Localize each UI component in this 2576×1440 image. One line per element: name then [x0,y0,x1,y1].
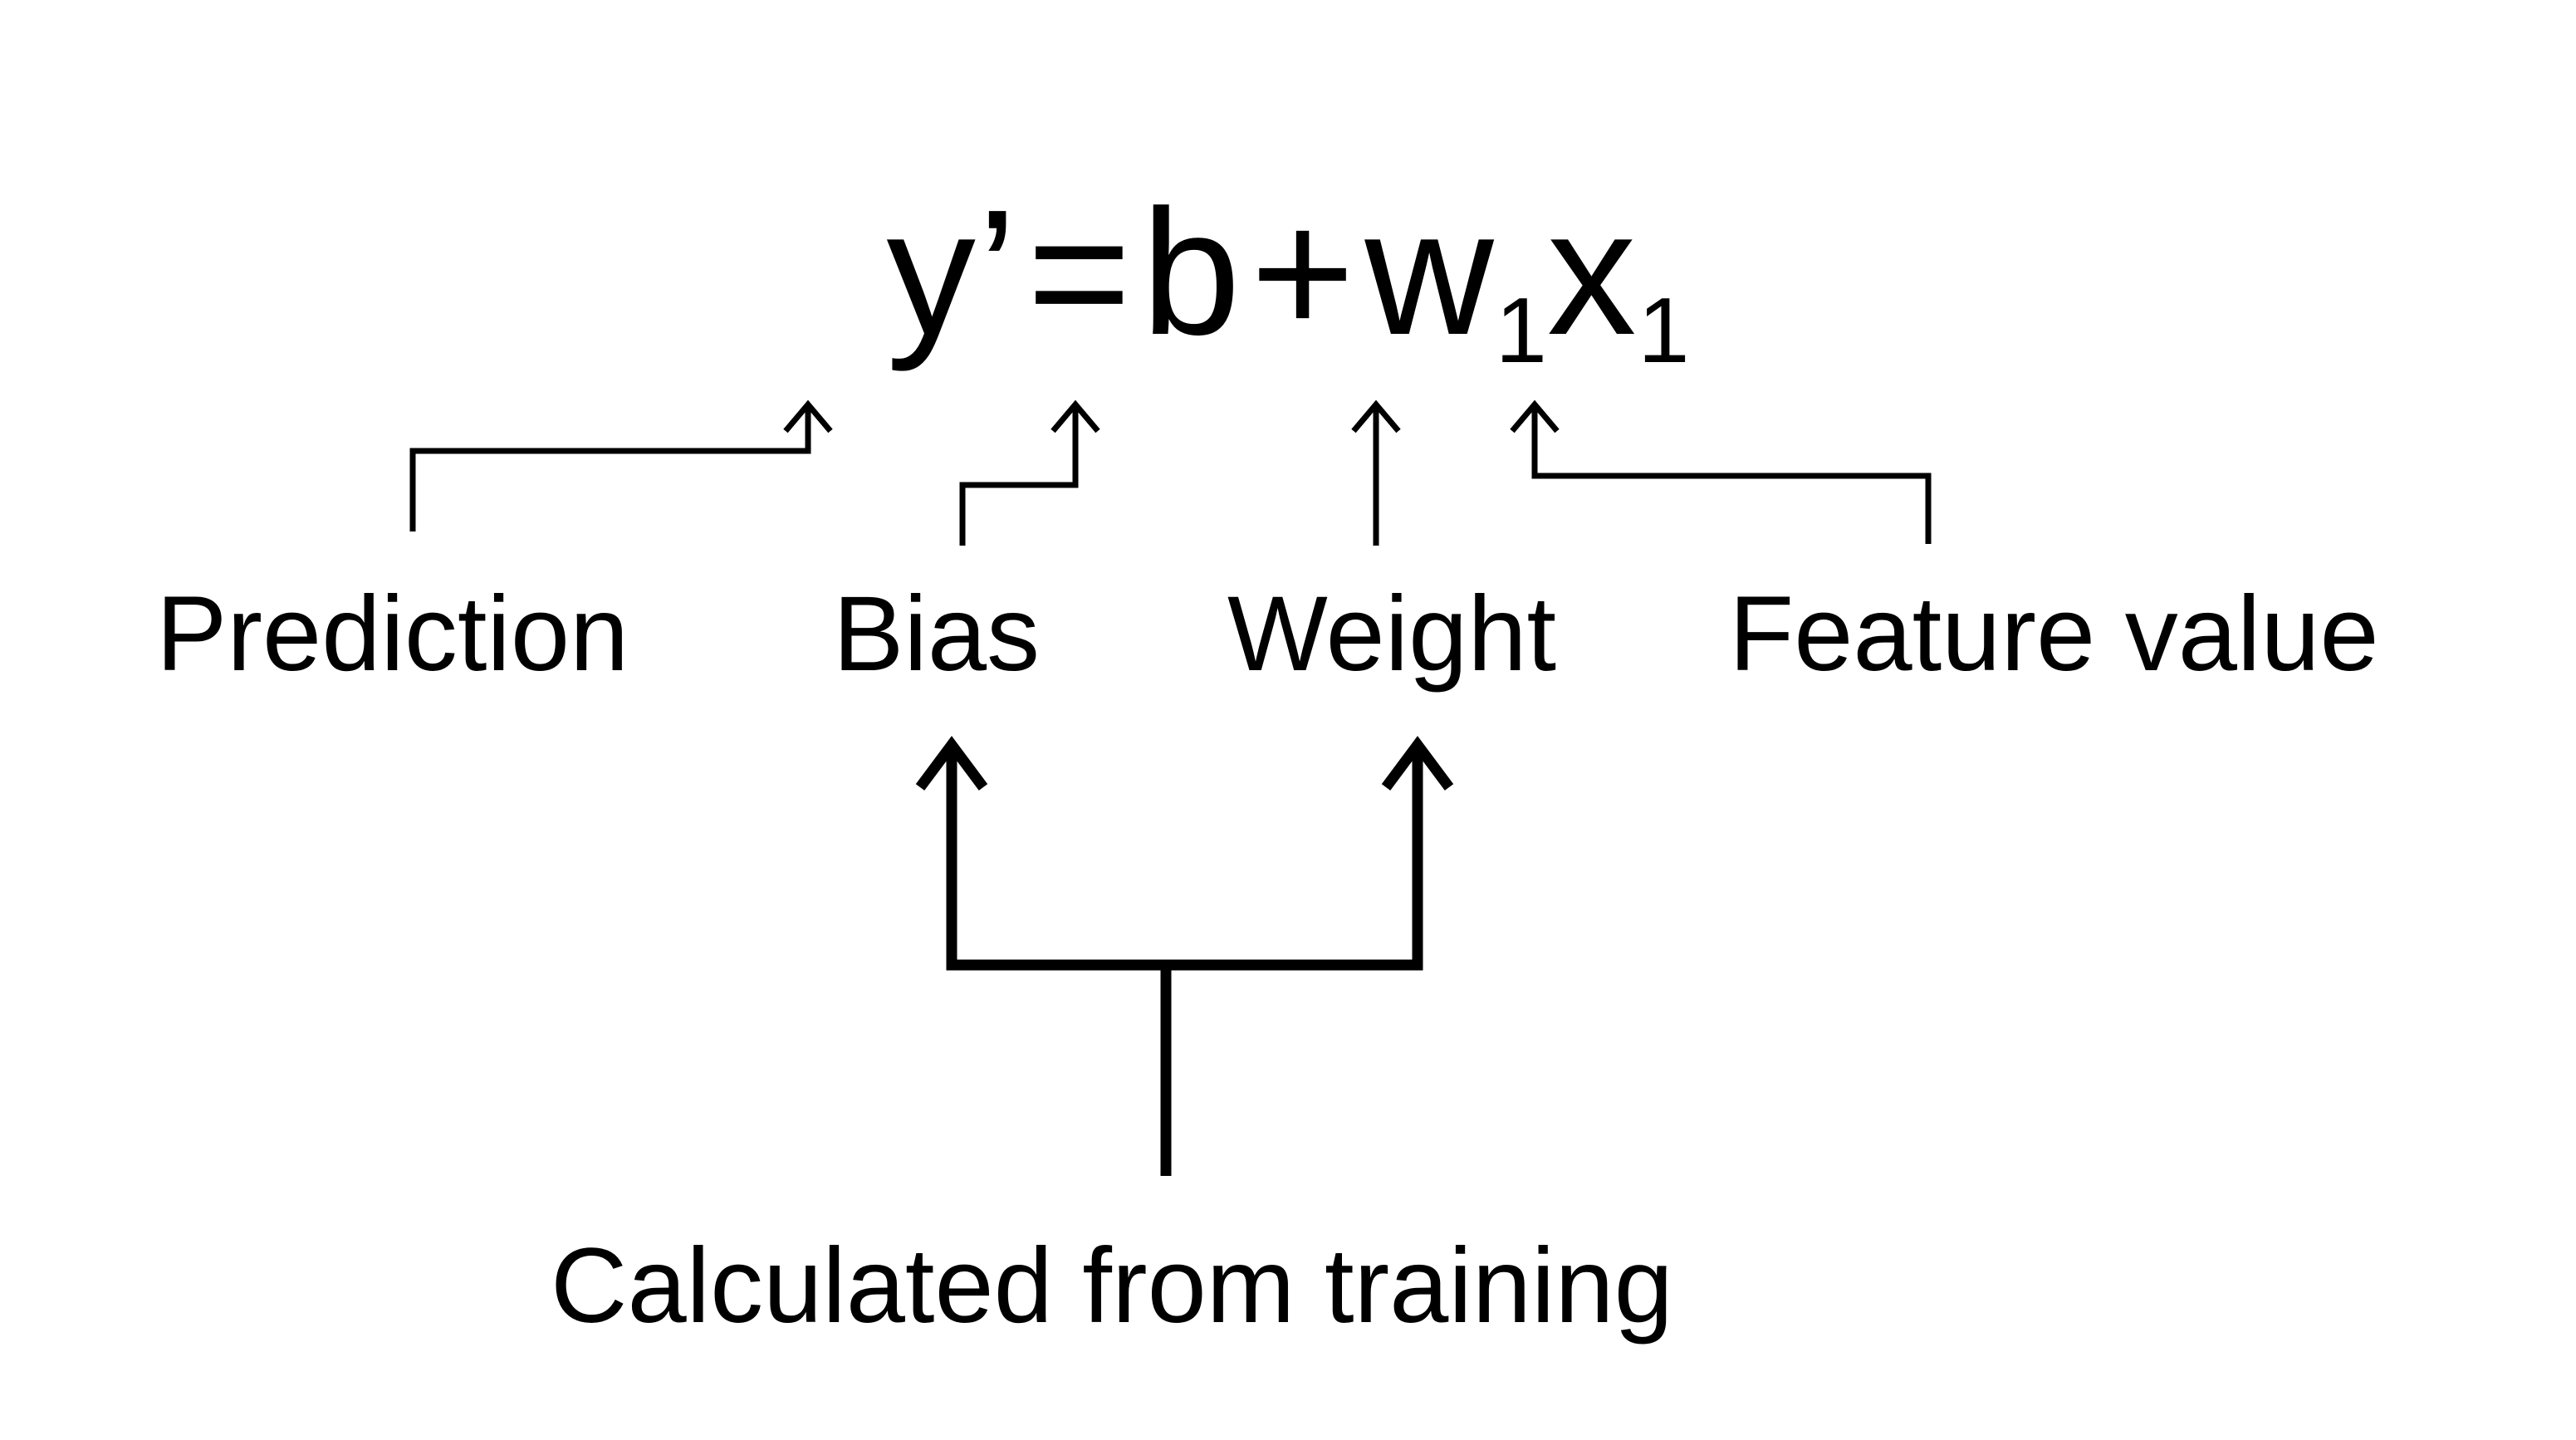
equation-equals-sign: = [1019,172,1142,372]
weight-connector [1354,404,1398,546]
equation-plus-sign: + [1242,172,1365,372]
training-brace-connector [920,745,1449,1176]
feature-connector [1512,404,1928,544]
label-feature-value: Feature value [1729,581,2379,688]
label-weight: Weight [1227,581,1556,688]
label-bias: Bias [833,581,1040,688]
equation-formula: y’=b+w1x1 [0,183,2576,361]
label-prediction: Prediction [156,581,629,688]
equation-weight-subscript: 1 [1496,278,1547,382]
equation-weight-token: w [1364,172,1495,372]
bias-connector [962,404,1098,546]
prediction-connector [413,404,830,531]
equation-prediction-token: y’ [886,172,1018,372]
label-calculated-from-training: Calculated from training [551,1233,1673,1340]
equation-feature-subscript: 1 [1638,278,1689,382]
diagram-canvas: y’=b+w1x1 Predict [0,0,2576,1440]
equation-bias-token: b [1141,172,1242,372]
equation-feature-token: x [1547,172,1638,372]
